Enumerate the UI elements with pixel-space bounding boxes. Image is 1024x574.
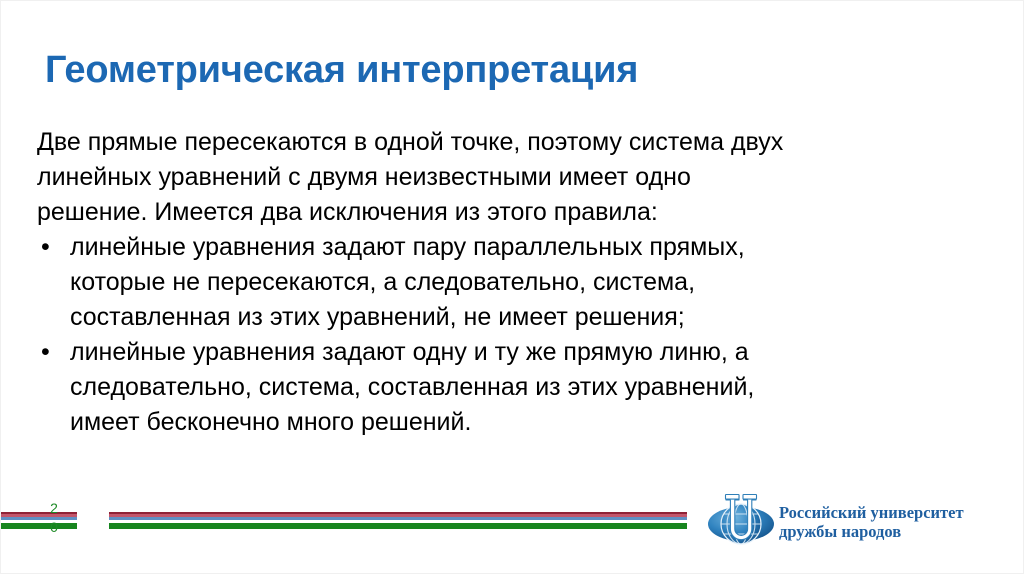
rudn-logo-text-line: Российский университет: [779, 503, 964, 522]
list-item-line: составленная из этих уравнений, не имеет…: [70, 300, 937, 335]
bullet-icon: •: [41, 335, 55, 370]
slide: Геометрическая интерпретация Две прямые …: [0, 0, 1024, 574]
paragraph-line: линейных уравнений с двумя неизвестными …: [37, 160, 937, 195]
stripe-bar-green: [109, 523, 687, 529]
paragraph-line: Две прямые пересекаются в одной точке, п…: [37, 125, 937, 160]
list-item: • линейные уравнения задают пару паралле…: [37, 230, 937, 335]
list-item-line: линейные уравнения задают пару параллель…: [70, 230, 937, 265]
rudn-logo: Российский университет дружбы народов: [701, 488, 1013, 560]
rudn-logo-text-line: дружбы народов: [779, 522, 964, 541]
rudn-logo-text: Российский университет дружбы народов: [779, 503, 964, 541]
footer-stripe-right: [109, 512, 687, 529]
slide-body: Две прямые пересекаются в одной точке, п…: [37, 125, 937, 440]
paragraph-line: решение. Имеется два исключения из этого…: [37, 195, 937, 230]
bullet-list: • линейные уравнения задают пару паралле…: [37, 230, 937, 440]
list-item: • линейные уравнения задают одну и ту же…: [37, 335, 937, 440]
rudn-globe-emblem-icon: [705, 490, 777, 558]
slide-number-digit: 0: [42, 518, 66, 537]
list-item-line: которые не пересекаются, а следовательно…: [70, 265, 937, 300]
page-title: Геометрическая интерпретация: [45, 49, 945, 92]
intro-paragraph: Две прямые пересекаются в одной точке, п…: [37, 125, 937, 230]
list-item-line: имеет бесконечно много решений.: [70, 405, 937, 440]
slide-number-digit: 2: [42, 499, 66, 518]
list-item-line: следовательно, система, составленная из …: [70, 370, 937, 405]
slide-number: 2 0: [42, 499, 66, 537]
bullet-icon: •: [41, 230, 55, 265]
list-item-line: линейные уравнения задают одну и ту же п…: [70, 335, 937, 370]
